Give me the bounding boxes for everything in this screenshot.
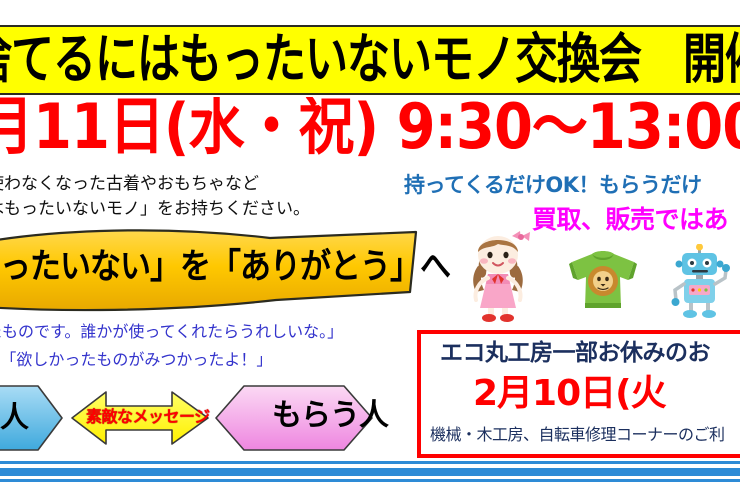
sweater-illustration <box>566 248 640 314</box>
flow-label-receiver: もらう人 <box>272 401 388 431</box>
flyer-page: 捨てるにはもったいないモノ交換会 開催 月11日(水・祝) 9:30〜13:00… <box>0 0 740 500</box>
body-text-line-1: が使わなくなった古着やおもちゃなど <box>0 172 390 197</box>
notice-date: 2月10日(火 <box>473 376 666 412</box>
flow-label-message: 素敵なメッセージ <box>86 409 210 425</box>
event-date-text: 月11日(水・祝) 9:30〜13:00 <box>0 97 740 159</box>
divider-stripe-middle <box>0 468 740 476</box>
body-text-block: が使わなくなった古着やおもちゃなど にはもったいないモノ」をお持ちください。 <box>0 172 390 222</box>
bottom-divider <box>0 461 740 487</box>
event-date-line: 月11日(水・祝) 9:30〜13:00 <box>0 97 740 159</box>
robot-illustration <box>668 244 732 320</box>
quote-line-1: いたものです。誰かが使ってくれたらうれしいな。」 <box>0 318 400 346</box>
callout-magenta-text: 買取、販売ではあ <box>532 207 728 232</box>
divider-stripe-bottom <box>0 479 740 482</box>
closure-notice-box: エコ丸工房一部お休みのお 2月10日(火 機械・木工房、自転車修理コーナーのご利 <box>417 330 740 458</box>
body-text-line-2: にはもったいないモノ」をお持ちください。 <box>0 197 390 222</box>
title-banner: 捨てるにはもったいないモノ交換会 開催 <box>0 25 740 95</box>
quote-line-2: す。」「欲しかったものがみつかったよ！」 <box>0 346 400 374</box>
notice-subtext: 機械・木工房、自転車修理コーナーのご利 <box>430 427 725 443</box>
banner-title: 捨てるにはもったいないモノ交換会 開催 <box>0 33 740 87</box>
ribbon-text: ったいない」を「ありがとう」へ <box>0 250 420 285</box>
doll-illustration <box>458 222 538 322</box>
callout-blue-text: 持ってくるだけOK！もらうだけ <box>404 175 702 196</box>
divider-stripe-top <box>0 461 740 464</box>
flow-label-giver: た人 <box>0 403 28 432</box>
quotes-block: いたものです。誰かが使ってくれたらうれしいな。」 す。」「欲しかったものがみつか… <box>0 318 400 374</box>
notice-heading: エコ丸工房一部お休みのお <box>440 342 710 365</box>
